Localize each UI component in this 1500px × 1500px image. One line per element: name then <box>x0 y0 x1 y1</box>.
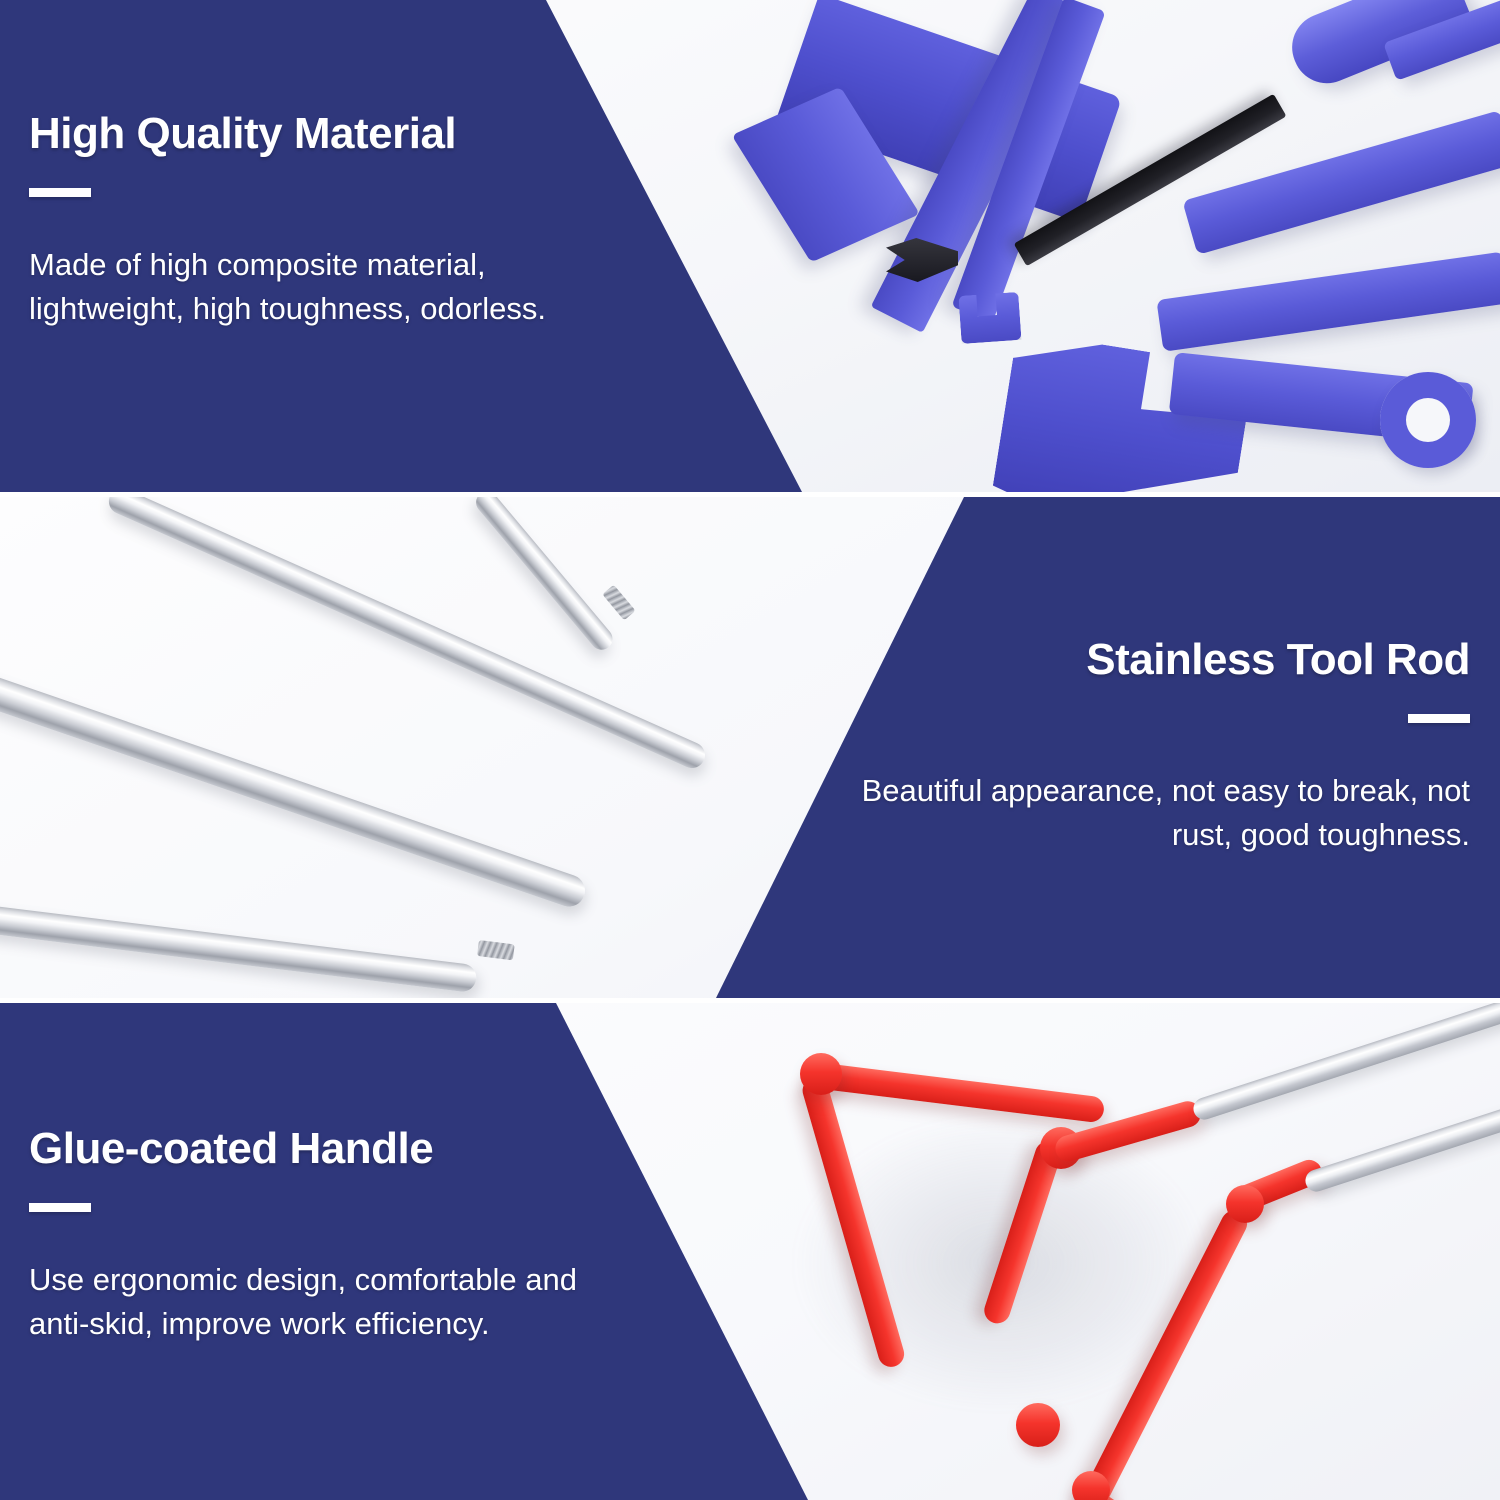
steel-rod-upper-right-stub <box>472 497 617 654</box>
panel-2-title: Stainless Tool Rod <box>850 636 1470 684</box>
steel-rod-bottom <box>0 902 478 993</box>
pry-tool-ring-hole <box>1380 372 1476 468</box>
t-handle-chrome-rod-upper <box>1191 1003 1500 1122</box>
bent-handle-chrome-rod <box>1303 1072 1500 1195</box>
panel-3-title: Glue-coated Handle <box>29 1125 639 1173</box>
pry-tool-right-blade-lower <box>1156 252 1500 352</box>
steel-rod-tip-threaded-bottom <box>477 940 515 960</box>
bent-handle-bend-upper <box>1226 1185 1264 1223</box>
panel-3-description: Use ergonomic design, comfortable and an… <box>29 1258 639 1346</box>
panel-1-text-block: High Quality Material Made of high compo… <box>29 110 639 331</box>
feature-panel-glue-coated-handle: Glue-coated Handle Use ergonomic design,… <box>0 1003 1500 1500</box>
feature-panel-stainless-tool-rod: Stainless Tool Rod Beautiful appearance,… <box>0 497 1500 998</box>
steel-rod-upper <box>105 497 709 772</box>
feature-panel-high-quality-material: High Quality Material Made of high compo… <box>0 0 1500 492</box>
product-feature-infographic: High Quality Material Made of high compo… <box>0 0 1500 1500</box>
panel-1-divider <box>29 188 91 197</box>
t-handle-corner-bottom <box>1016 1403 1060 1447</box>
panel-2-divider <box>1408 714 1470 723</box>
t-handle-top-arm <box>804 1061 1105 1123</box>
panel-1-description: Made of high composite material, lightwe… <box>29 243 639 331</box>
panel-1-title: High Quality Material <box>29 110 639 158</box>
panel-2-description: Beautiful appearance, not easy to break,… <box>850 769 1470 857</box>
t-handle-corner-top-left <box>800 1053 842 1095</box>
panel-2-text-block: Stainless Tool Rod Beautiful appearance,… <box>850 636 1470 857</box>
panel-3-text-block: Glue-coated Handle Use ergonomic design,… <box>29 1125 639 1346</box>
steel-rod-middle <box>0 666 589 911</box>
panel-3-divider <box>29 1203 91 1212</box>
steel-rod-tip-threaded-upper <box>602 585 635 621</box>
